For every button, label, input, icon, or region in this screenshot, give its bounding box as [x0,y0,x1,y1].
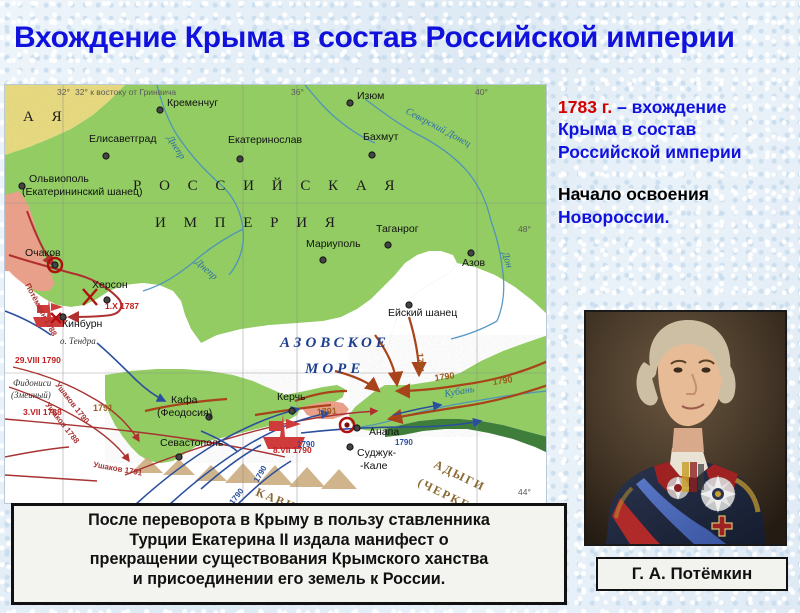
city-label: Суджук- [357,447,397,459]
island-label: Фидониси [13,378,52,388]
campaign-year-label: 1791 [316,406,337,417]
route-label-blue: 1790 [297,440,315,449]
sea-label: МОРЕ [304,361,364,377]
city-dot [347,444,353,450]
graticule-note: 32° к востоку от Гринвича [75,87,176,97]
historical-map: 32° к востоку от Гринвича32°36°40°48°44°… [4,84,547,504]
annexation-line3: Российской империи [558,142,741,162]
city-label: Таганрог [376,223,419,235]
city-label: Бахмут [363,131,399,143]
city-dot [369,152,375,158]
fact-novorossiya: Начало освоения Новороссии. [558,183,800,228]
caption-line-1: После переворота в Крыму в пользу ставле… [20,511,558,531]
battle-date-label: 29.VIII 1790 [15,355,61,365]
caption-line-2: Турции Екатерина II издала манифест о [20,531,558,551]
city-label: Севастополь [160,437,224,449]
city-dot [176,454,182,460]
city-label: Кафа [171,394,198,406]
country-label: И М П Е Р И Я [155,215,342,231]
campaign-year-label: 1791 [93,403,113,413]
portrait-potemkin [584,310,787,546]
city-label: Изюм [357,90,384,102]
grid-label: 40° [475,87,488,97]
city-dot [320,257,326,263]
grid-label: 44° [518,487,531,497]
bottom-caption-box: После переворота в Крыму в пользу ставле… [11,503,567,605]
city-label: Очаков [25,247,61,259]
city-label: (Екатерининский шанец) [22,186,143,198]
campaign-year-label: 1791 [415,353,426,373]
annexation-line2: Крыма в состав [558,119,696,139]
city-dot [103,153,109,159]
city-dot [385,242,391,248]
portrait-caption: Г. А. Потёмкин [596,557,788,591]
city-label: Кинбурн [62,318,103,330]
country-label: Р О С С И Й С К А Я [133,177,401,194]
city-dot [347,100,353,106]
fact-annexation: 1783 г. – вхождение Крыма в состав Росси… [558,96,800,163]
battle-date-label: 1.X 1787 [105,301,139,311]
grid-label: 32° [57,87,70,97]
portrait-caption-text: Г. А. Потёмкин [632,564,752,584]
grid-label: 48° [518,224,531,234]
route-label-blue: 1790 [395,438,413,447]
page-title: Вхождение Крыма в состав Российской импе… [14,22,800,54]
city-label: Кременчуг [167,97,218,109]
city-label: Мариуполь [306,238,361,250]
grid-label: 36° [291,87,304,97]
city-dot [289,408,295,414]
city-label: (Феодосия) [157,407,212,419]
city-label: Елисаветград [89,133,156,145]
novorossiya-line1: Начало освоения [558,184,709,204]
city-dot [468,250,474,256]
country-label-clipped: А Я [23,109,69,125]
sea-label: АЗОВСКОЕ [279,335,390,351]
city-dot [52,262,58,268]
city-dot [157,107,163,113]
caption-line-3: прекращении существования Крымского ханс… [20,550,558,570]
city-label: Херсон [92,279,128,291]
city-label: Азов [462,257,486,269]
city-label: Ейский шанец [388,307,457,319]
island-label: о. Тендра [60,336,96,346]
city-label: -Кале [360,460,388,472]
annexation-year: 1783 г. [558,97,612,117]
city-label: Екатеринослав [228,134,303,146]
island-label: (Змеиный) [11,390,51,400]
city-label: Ольвиополь [29,173,89,185]
key-facts-panel: 1783 г. – вхождение Крыма в состав Росси… [558,96,800,228]
novorossiya-line2: Новороссии. [558,207,670,227]
city-dot [354,425,360,431]
annexation-line1-rest: – вхождение [612,97,726,117]
caption-line-4: и присоединении его земель к России. [20,570,558,590]
city-label: Анапа [369,426,399,438]
city-dot [237,156,243,162]
city-label: Керчь [277,391,306,403]
